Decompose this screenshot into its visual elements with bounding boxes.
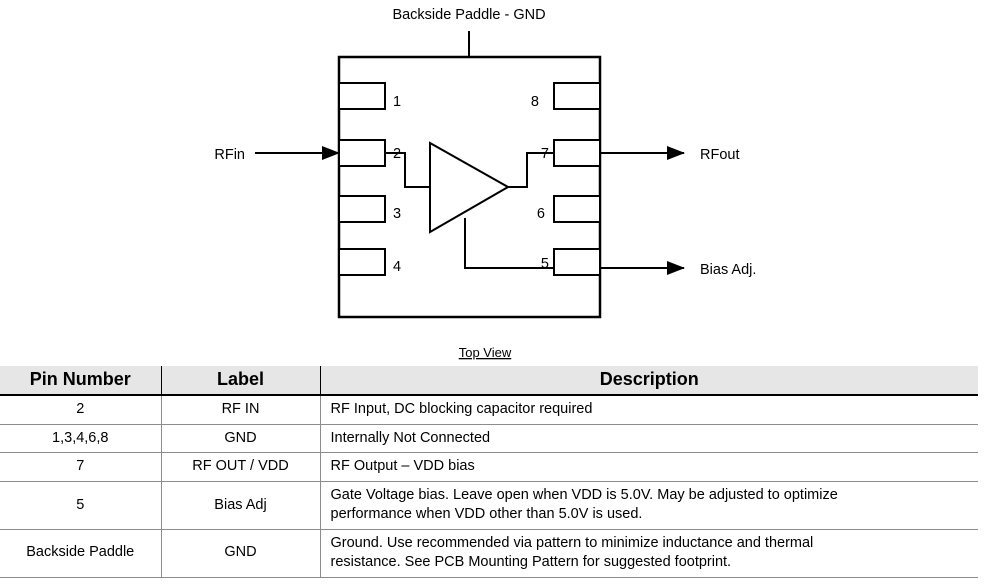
table-body: 2 RF IN RF Input, DC blocking capacitor … (0, 395, 978, 577)
table-row: Backside Paddle GND Ground. Use recommen… (0, 529, 978, 577)
pin-pad-1 (339, 83, 385, 109)
bias-adj-label: Bias Adj. (700, 262, 756, 278)
cell-description: Gate Voltage bias. Leave open when VDD i… (320, 482, 978, 530)
table-header: Pin Number Label Description (0, 366, 978, 395)
pin-number-1: 1 (393, 94, 401, 110)
description-line: Ground. Use recommended via pattern to m… (331, 534, 973, 553)
cell-pin-number: 2 (0, 395, 161, 424)
description-line: Internally Not Connected (331, 429, 973, 448)
cell-label: Bias Adj (161, 482, 320, 530)
pin-number-8: 8 (531, 94, 539, 110)
table-row: 7 RF OUT / VDD RF Output – VDD bias (0, 453, 978, 482)
description-line: resistance. See PCB Mounting Pattern for… (331, 553, 973, 572)
pin-description-table: Pin Number Label Description 2 RF IN RF … (0, 366, 978, 578)
table-row: 1,3,4,6,8 GND Internally Not Connected (0, 424, 978, 453)
pin-number-5: 5 (541, 256, 549, 272)
column-header-pin-number: Pin Number (0, 366, 161, 395)
pin-pad-3 (339, 196, 385, 222)
cell-label: RF OUT / VDD (161, 453, 320, 482)
description-line: Gate Voltage bias. Leave open when VDD i… (331, 486, 973, 505)
top-view-caption: Top View (459, 345, 512, 360)
pin-number-4: 4 (393, 259, 401, 275)
pinout-diagram: Backside Paddle - GND 1 2 3 4 8 7 6 5 (0, 0, 1002, 366)
cell-pin-number: 5 (0, 482, 161, 530)
pin-pad-7 (554, 140, 600, 166)
column-header-label: Label (161, 366, 320, 395)
cell-description: Ground. Use recommended via pattern to m… (320, 529, 978, 577)
description-line: RF Input, DC blocking capacitor required (331, 400, 973, 419)
cell-pin-number: 1,3,4,6,8 (0, 424, 161, 453)
cell-pin-number: Backside Paddle (0, 529, 161, 577)
pin-pad-6 (554, 196, 600, 222)
cell-description: RF Input, DC blocking capacitor required (320, 395, 978, 424)
table-row: 2 RF IN RF Input, DC blocking capacitor … (0, 395, 978, 424)
pin-description-table-container: Pin Number Label Description 2 RF IN RF … (0, 366, 1002, 578)
rfin-label: RFin (214, 147, 245, 163)
cell-description: RF Output – VDD bias (320, 453, 978, 482)
pin-pad-5 (554, 249, 600, 275)
pin-number-3: 3 (393, 206, 401, 222)
cell-pin-number: 7 (0, 453, 161, 482)
cell-label: GND (161, 424, 320, 453)
cell-description: Internally Not Connected (320, 424, 978, 453)
cell-label: RF IN (161, 395, 320, 424)
rfout-label: RFout (700, 147, 740, 163)
pin-pad-8 (554, 83, 600, 109)
table-header-row: Pin Number Label Description (0, 366, 978, 395)
pinout-diagram-svg: Backside Paddle - GND 1 2 3 4 8 7 6 5 (0, 0, 1002, 366)
pin-pad-4 (339, 249, 385, 275)
pin-pad-2 (339, 140, 385, 166)
column-header-description: Description (320, 366, 978, 395)
cell-label: GND (161, 529, 320, 577)
table-row: 5 Bias Adj Gate Voltage bias. Leave open… (0, 482, 978, 530)
backside-paddle-label: Backside Paddle - GND (392, 7, 545, 23)
pin-number-6: 6 (537, 206, 545, 222)
description-line: RF Output – VDD bias (331, 457, 973, 476)
description-line: performance when VDD other than 5.0V is … (331, 505, 973, 524)
